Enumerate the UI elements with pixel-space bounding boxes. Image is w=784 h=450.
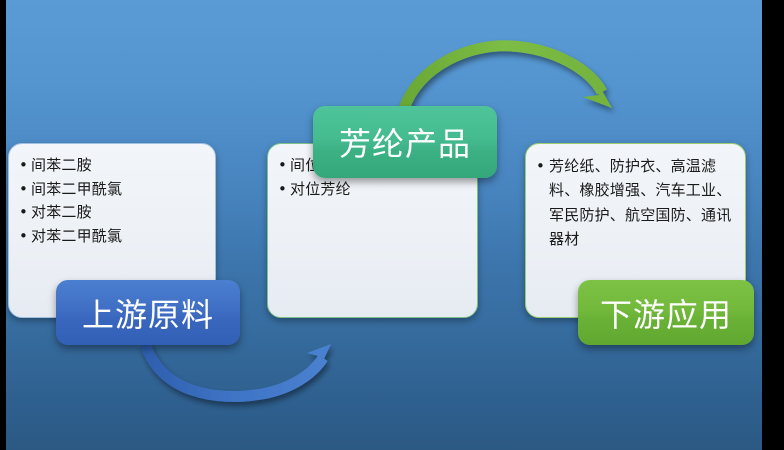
letterbox-band-right <box>762 0 784 450</box>
list-item: 间苯二胺 <box>19 154 205 178</box>
product-stage-label[interactable]: 芳纶产品 <box>313 106 497 178</box>
list-item: 芳纶纸、防护衣、高温滤料、橡胶增强、汽车工业、军民防护、航空国防、通讯器材 <box>536 154 735 251</box>
product-stage-label-text: 芳纶产品 <box>339 119 471 165</box>
letterbox-band-left <box>0 0 6 450</box>
list-item: 间苯二甲酰氯 <box>19 178 205 202</box>
list-item: 对苯二胺 <box>19 201 205 225</box>
downstream-stage-label-text: 下游应用 <box>600 290 732 336</box>
upstream-stage-label[interactable]: 上游原料 <box>56 280 240 345</box>
downstream-item-list: 芳纶纸、防护衣、高温滤料、橡胶增强、汽车工业、军民防护、航空国防、通讯器材 <box>536 154 735 251</box>
upstream-item-list: 间苯二胺 间苯二甲酰氯 对苯二胺 对苯二甲酰氯 <box>19 154 205 249</box>
slide-canvas: 间苯二胺 间苯二甲酰氯 对苯二胺 对苯二甲酰氯 间位芳纶 对位芳纶 芳纶纸、防护… <box>0 0 784 450</box>
list-item: 对苯二甲酰氯 <box>19 225 205 249</box>
upstream-stage-label-text: 上游原料 <box>82 290 214 336</box>
downstream-stage-label[interactable]: 下游应用 <box>578 280 754 345</box>
list-item: 对位芳纶 <box>278 178 467 202</box>
